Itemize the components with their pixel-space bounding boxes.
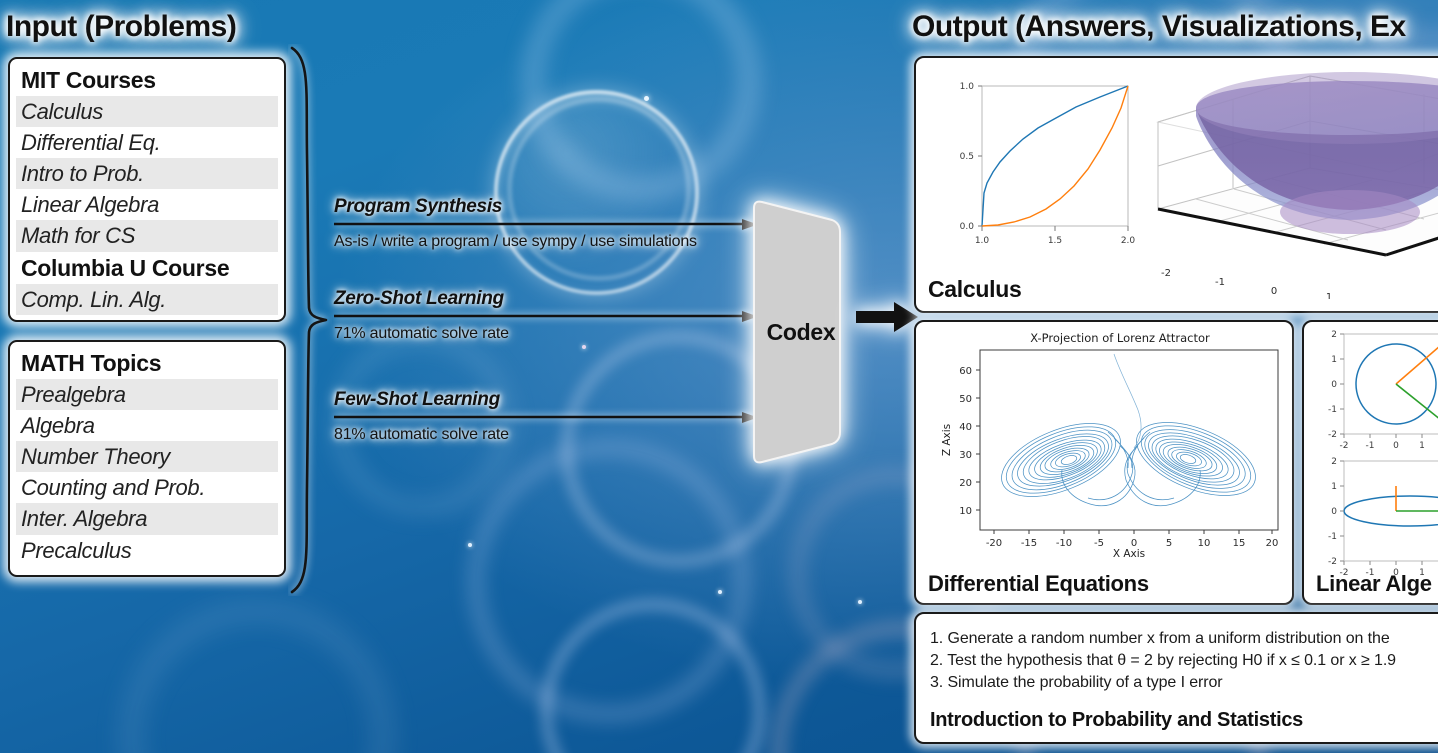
output-arrow-icon: [856, 300, 918, 334]
y-tick: 50: [959, 394, 972, 405]
y-tick: 0.5: [960, 152, 974, 162]
x-tick: -2: [1340, 441, 1349, 451]
arrow-sublabel: 71% automatic solve rate: [334, 325, 758, 343]
linear-algebra-output-card: 2 1 0 -1 -2 -2 -1 0 1: [1302, 320, 1438, 605]
y-tick: 1.0: [960, 82, 975, 92]
differential-equations-output-card: X-Projection of Lorenz Attractor 60 50 4…: [914, 320, 1294, 605]
x-tick: -1: [1215, 277, 1225, 288]
x-tick: 1.0: [975, 236, 990, 246]
output-section-heading: Output (Answers, Visualizations, Ex: [912, 10, 1406, 44]
y-tick: -1: [1328, 405, 1337, 415]
x-tick: -20: [986, 538, 1002, 549]
linear-algebra-card-title: Linear Alge: [1316, 571, 1432, 597]
calculus-output-card: 1.0 0.5 0.0 1.0 1.5 2.0: [914, 56, 1438, 313]
probability-card-title: Introduction to Probability and Statisti…: [930, 709, 1303, 732]
x-tick: 5: [1166, 538, 1172, 549]
topic-item[interactable]: Algebra: [16, 410, 278, 441]
course-item[interactable]: Calculus: [16, 96, 278, 127]
x-axis-label: X Axis: [1113, 548, 1145, 558]
y-tick: 2: [1331, 330, 1337, 340]
x-tick: 2: [1380, 298, 1386, 299]
y-tick: -1: [1328, 532, 1337, 542]
linear-algebra-ellipse-plot: 2 1 0 -1 -2 -2 -1 0 1: [1310, 453, 1438, 578]
arrow-sublabel: As-is / write a program / use sympy / us…: [334, 233, 758, 251]
y-tick: 0.0: [960, 222, 975, 232]
x-tick: -1: [1366, 441, 1375, 451]
topic-item[interactable]: Precalculus: [16, 535, 278, 566]
y-tick: 1: [1331, 482, 1337, 492]
calculus-card-title: Calculus: [928, 276, 1021, 303]
topic-item[interactable]: Prealgebra: [16, 379, 278, 410]
topic-item[interactable]: Number Theory: [16, 441, 278, 472]
topic-item[interactable]: Counting and Prob.: [16, 472, 278, 503]
x-tick: -5: [1094, 538, 1104, 549]
lorenz-attractor-plot: X-Projection of Lorenz Attractor 60 50 4…: [924, 328, 1290, 558]
problem-step: 2. Test the hypothesis that θ = 2 by rej…: [930, 650, 1396, 672]
topic-item[interactable]: Inter. Algebra: [16, 503, 278, 534]
y-tick: 60: [959, 366, 972, 377]
arrow-label: Program Synthesis: [334, 196, 758, 218]
arrow-shaft: [334, 311, 758, 323]
arrow-sublabel: 81% automatic solve rate: [334, 426, 758, 444]
x-tick: -10: [1056, 538, 1072, 549]
y-tick: 0: [1331, 380, 1337, 390]
arrow-group-zero-shot-learning: Zero-Shot Learning 71% automatic solve r…: [334, 288, 758, 343]
arrow-group-few-shot-learning: Few-Shot Learning 81% automatic solve ra…: [334, 389, 758, 444]
arrow-label: Zero-Shot Learning: [334, 288, 758, 310]
y-tick: 40: [959, 422, 972, 433]
course-item[interactable]: Comp. Lin. Alg.: [16, 284, 278, 315]
y-tick: 30: [959, 450, 972, 461]
math-topics-panel: MATH Topics Prealgebra Algebra Number Th…: [8, 340, 286, 577]
math-topics-group-title: MATH Topics: [16, 347, 278, 379]
plot-title: X-Projection of Lorenz Attractor: [1030, 331, 1210, 345]
y-tick: 10: [959, 506, 972, 517]
x-tick: 0: [1393, 441, 1399, 451]
y-tick: -2: [1328, 557, 1337, 567]
y-tick: 1: [1331, 355, 1337, 365]
probability-problem-list: 1. Generate a random number x from a uni…: [930, 628, 1396, 694]
arrow-group-program-synthesis: Program Synthesis As-is / write a progra…: [334, 196, 758, 251]
problem-step: 1. Generate a random number x from a uni…: [930, 628, 1396, 650]
problem-step: 3. Simulate the probability of a type I …: [930, 672, 1396, 694]
y-axis-label: Z Axis: [941, 424, 953, 456]
x-tick: 0: [1271, 286, 1277, 297]
codex-node-label: Codex: [752, 198, 850, 466]
x-tick: 1.5: [1048, 236, 1062, 246]
y-tick: 20: [959, 478, 972, 489]
y-tick: -2: [1328, 430, 1337, 440]
course-item[interactable]: Differential Eq.: [16, 127, 278, 158]
x-tick: 1: [1326, 292, 1332, 299]
arrow-shaft: [334, 219, 758, 231]
x-tick: 10: [1198, 538, 1211, 549]
input-section-heading: Input (Problems): [6, 10, 236, 44]
x-tick: 1: [1419, 441, 1425, 451]
y-tick: 0: [1331, 507, 1337, 517]
columbia-course-group-title: Columbia U Course: [16, 252, 278, 284]
codex-text: Codex: [767, 319, 836, 346]
mit-courses-panel: MIT Courses Calculus Differential Eq. In…: [8, 57, 286, 322]
course-item[interactable]: Intro to Prob.: [16, 158, 278, 189]
x-tick: 15: [1233, 538, 1246, 549]
linear-algebra-circle-plot: 2 1 0 -1 -2 -2 -1 0 1: [1310, 326, 1438, 451]
arrow-label: Few-Shot Learning: [334, 389, 758, 411]
arrow-shaft: [334, 412, 758, 424]
probability-output-card: 1. Generate a random number x from a uni…: [914, 612, 1438, 744]
differential-equations-card-title: Differential Equations: [928, 571, 1149, 597]
course-item[interactable]: Linear Algebra: [16, 189, 278, 220]
x-tick: -2: [1161, 268, 1171, 279]
x-tick: 20: [1266, 538, 1279, 549]
y-tick: 2: [1331, 457, 1337, 467]
grouping-brace-icon: [288, 44, 332, 596]
mit-courses-group-title: MIT Courses: [16, 64, 278, 96]
course-item[interactable]: Math for CS: [16, 220, 278, 251]
x-tick: -15: [1021, 538, 1037, 549]
calculus-3d-surface-plot: -2 -1 0 1 2 X -1 -2: [1134, 64, 1438, 299]
calculus-2d-plot: 1.0 0.5 0.0 1.0 1.5 2.0: [938, 76, 1148, 256]
